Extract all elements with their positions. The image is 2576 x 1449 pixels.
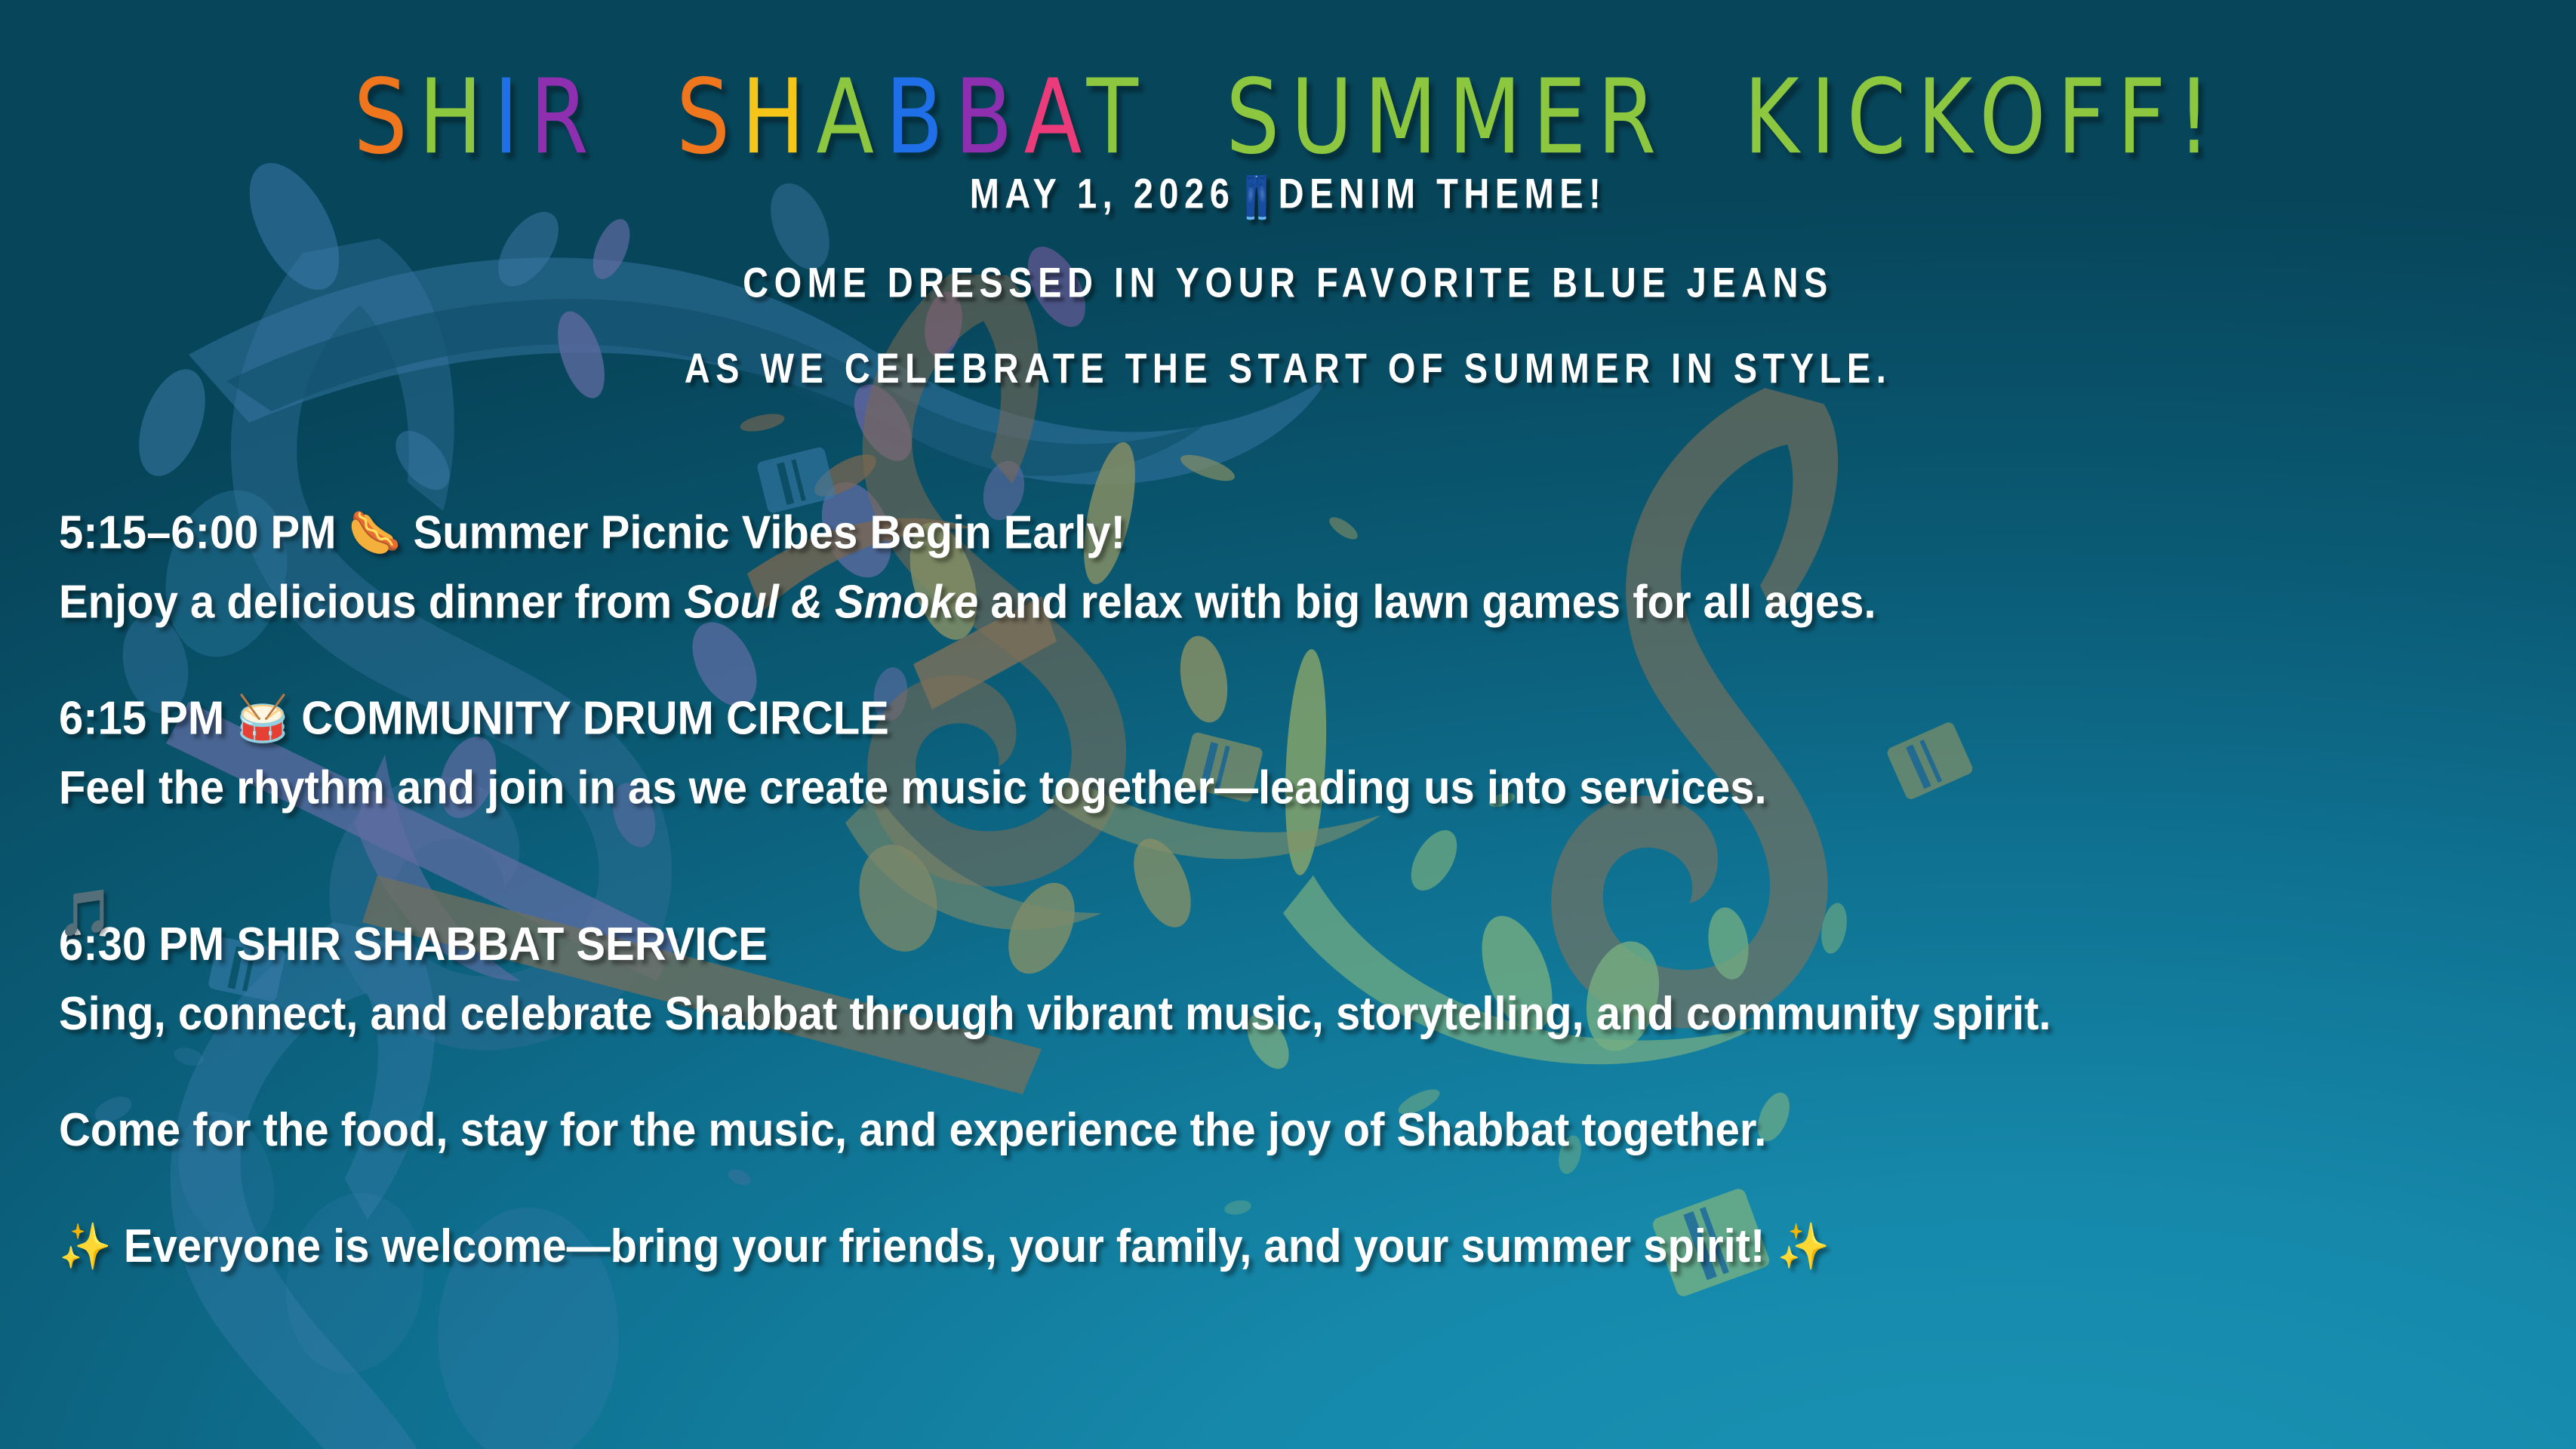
picnic-title: Summer Picnic Vibes Begin Early! — [414, 506, 1125, 559]
jeans-icon: 👖 — [1235, 174, 1278, 220]
hotdog-icon: 🌭 — [349, 507, 402, 558]
subtitle-line-date-theme: MAY 1, 2026👖DENIM THEME! — [0, 151, 2576, 240]
vertical-spacer — [59, 869, 2474, 910]
schedule-item-drum-heading: 6:15 PM 🥁 COMMUNITY DRUM CIRCLE — [59, 684, 2474, 753]
subtitle-block: MAY 1, 2026👖DENIM THEME! COME DRESSED IN… — [0, 151, 2576, 411]
subtitle-line-3: AS WE CELEBRATE THE START OF SUMMER IN S… — [0, 325, 2576, 411]
drum-title: COMMUNITY DRUM CIRCLE — [301, 692, 889, 745]
welcome-line-inner: ✨ Everyone is welcome—bring your friends… — [59, 1212, 2474, 1281]
schedule-item-drum-desc: Feel the rhythm and join in as we create… — [59, 753, 2474, 823]
picnic-time: 5:15–6:00 PM — [59, 506, 337, 559]
service-title: SHIR SHABBAT SERVICE — [236, 918, 768, 971]
schedule-item-drum-circle: 6:15 PM 🥁 COMMUNITY DRUM CIRCLE Feel the… — [59, 684, 2474, 823]
subtitle-line-2: COME DRESSED IN YOUR FAVORITE BLUE JEANS — [0, 240, 2576, 325]
event-date: MAY 1, 2026 — [970, 170, 1236, 217]
schedule-item-picnic-desc: Enjoy a delicious dinner from Soul & Smo… — [59, 568, 2474, 637]
drum-icon: 🥁 — [236, 693, 289, 743]
closing-line-1: Come for the food, stay for the music, a… — [59, 1096, 2474, 1165]
closing-invitation: Come for the food, stay for the music, a… — [59, 1096, 2474, 1165]
drum-time: 6:15 PM — [59, 692, 224, 745]
sparkles-icon-right: ✨ — [1777, 1221, 1830, 1272]
welcome-line: ✨ Everyone is welcome—bring your friends… — [59, 1212, 2474, 1281]
denim-theme-label: DENIM THEME! — [1279, 170, 1607, 217]
schedule-item-service-desc: Sing, connect, and celebrate Shabbat thr… — [59, 980, 2474, 1049]
sparkles-icon-left: ✨ — [59, 1221, 112, 1272]
music-note-icon: 🎵 — [57, 891, 114, 936]
picnic-desc-before: Enjoy a delicious dinner from — [59, 576, 684, 629]
schedule-item-service: 6:30 PM SHIR SHABBAT SERVICE Sing, conne… — [59, 910, 2474, 1049]
event-flyer: SHIR SHABBAT SUMMER KICKOFF! MAY 1, 2026… — [0, 0, 2576, 1449]
schedule-item-service-heading: 6:30 PM SHIR SHABBAT SERVICE — [59, 910, 2474, 980]
picnic-desc-after: and relax with big lawn games for all ag… — [978, 576, 1876, 629]
schedule-body: 5:15–6:00 PM 🌭 Summer Picnic Vibes Begin… — [59, 498, 2474, 1281]
schedule-item-picnic-heading: 5:15–6:00 PM 🌭 Summer Picnic Vibes Begin… — [59, 498, 2474, 568]
welcome-text: Everyone is welcome—bring your friends, … — [124, 1220, 1765, 1273]
caterer-name: Soul & Smoke — [684, 576, 978, 629]
schedule-item-picnic: 5:15–6:00 PM 🌭 Summer Picnic Vibes Begin… — [59, 498, 2474, 637]
